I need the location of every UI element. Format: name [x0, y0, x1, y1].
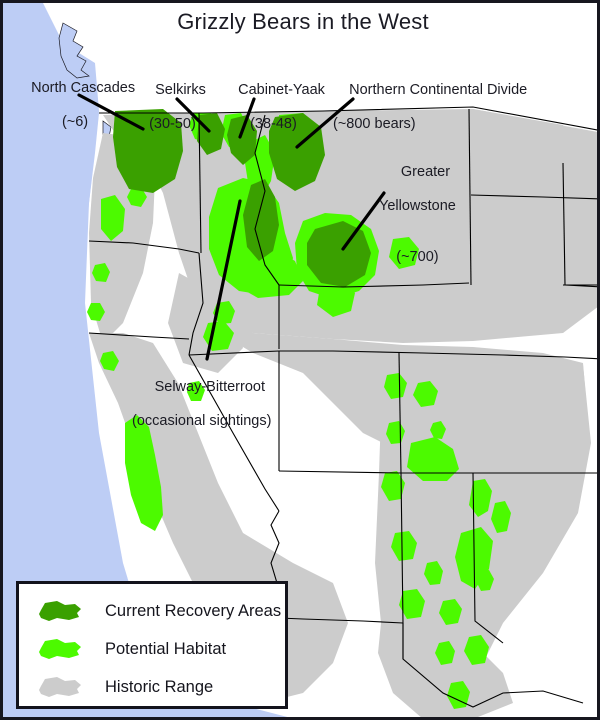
legend-label-current-recovery-areas: Current Recovery Areas — [105, 602, 281, 621]
legend-item-historic-range: Historic Range — [19, 668, 285, 706]
blob-shape — [39, 677, 81, 697]
blob-shape — [39, 601, 81, 621]
grizzly-bear-distribution-map: Grizzly Bears in the West North Cascades… — [0, 0, 600, 720]
legend-label-historic-range: Historic Range — [105, 678, 213, 697]
leader-ncd — [297, 99, 353, 147]
leader-selway — [207, 201, 240, 359]
leader-cabinet-yaak — [240, 99, 254, 137]
legend-item-current-recovery-areas: Current Recovery Areas — [19, 592, 285, 630]
leader-north-cascades — [79, 95, 143, 129]
legend-swatch-current-recovery-areas — [35, 598, 85, 624]
legend-label-potential-habitat: Potential Habitat — [105, 640, 226, 659]
legend-swatch-potential-habitat — [35, 636, 85, 662]
legend-item-potential-habitat: Potential Habitat — [19, 630, 285, 668]
map-legend: Current Recovery Areas Potential Habitat… — [16, 581, 288, 709]
blob-shape — [39, 639, 81, 659]
leader-selkirks — [177, 99, 209, 131]
legend-swatch-historic-range — [35, 674, 85, 700]
leader-yellowstone — [343, 193, 384, 249]
